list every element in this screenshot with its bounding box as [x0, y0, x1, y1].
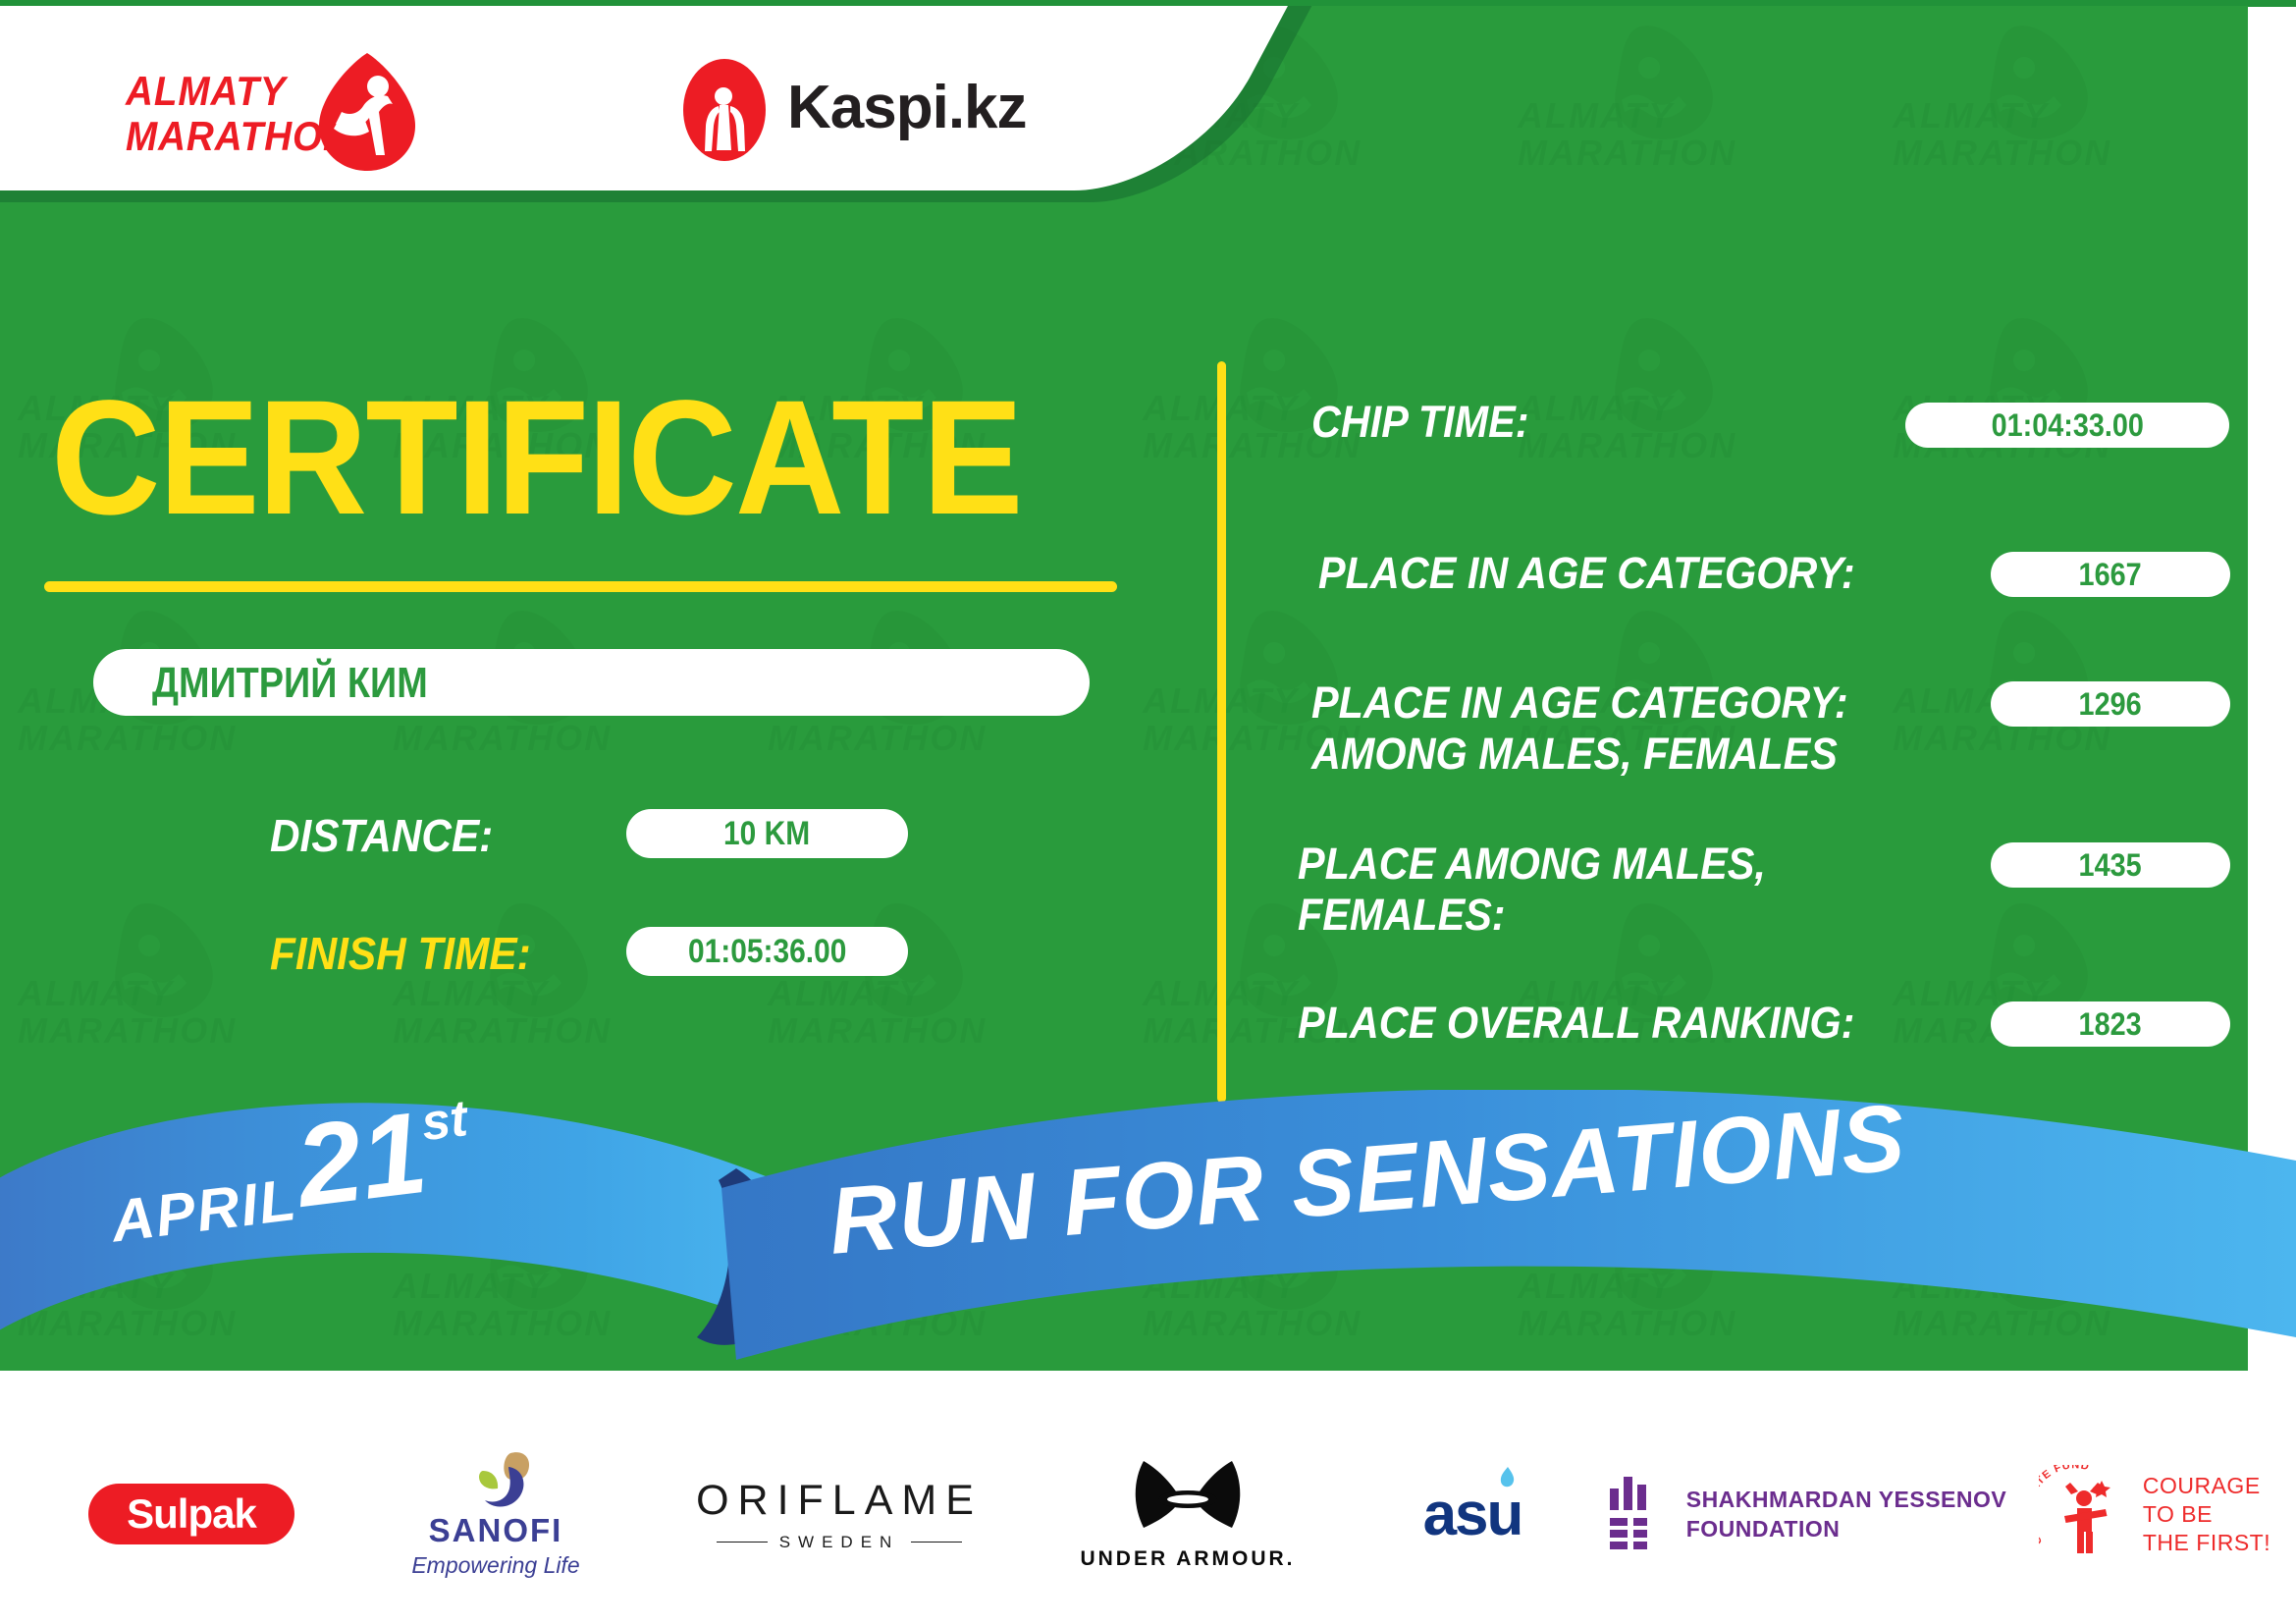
almaty-marathon-logo: ALMATY MARATHON — [126, 55, 420, 169]
finish-time-value: 01:05:36.00 — [688, 933, 846, 971]
sponsor-under-armour: UNDER ARMOUR. — [1041, 1404, 1335, 1624]
yessenov-foundation-logo: SHAKHMARDAN YESSENOV FOUNDATION — [1606, 1475, 2007, 1553]
place-overall-value-pill: 1823 — [1991, 1001, 2230, 1047]
event-day: 21 — [290, 1088, 433, 1232]
sanofi-bird-icon — [454, 1449, 538, 1508]
place-age-category-gender-label: PLACE IN AGE CATEGORY: AMONG MALES, FEMA… — [1311, 677, 1998, 780]
chip-time-label: CHIP TIME: — [1311, 397, 1998, 448]
place-overall-label: PLACE OVERALL RANKING: — [1298, 998, 1984, 1049]
certificate-canvas: ALMATY MARATHON CERTIFICATE ДМИТРИЙ КИМ … — [0, 0, 2296, 1624]
finish-time-value-pill: 01:05:36.00 — [626, 927, 908, 976]
oriflame-sub: SWEDEN — [696, 1533, 983, 1552]
distance-value: 10 KM — [723, 815, 810, 853]
kaspi-wordmark: Kaspi.kz — [787, 73, 1027, 142]
sponsor-bar: Sulpak SANOFI Empowering Life ORIFLAME S… — [0, 1404, 2296, 1624]
sponsor-asu: asu — [1345, 1404, 1600, 1624]
oriflame-rule-left — [717, 1542, 768, 1543]
participant-name: ДМИТРИЙ КИМ — [152, 661, 428, 706]
yessenov-bars-icon — [1606, 1475, 1665, 1553]
oriflame-rule-right — [911, 1542, 962, 1543]
courage-line-3: THE FIRST! — [2143, 1529, 2270, 1557]
event-day-ordinal: st — [418, 1090, 470, 1152]
place-age-category-value: 1667 — [2079, 557, 2142, 593]
under-armour-icon — [1126, 1457, 1250, 1542]
sponsor-oriflame: ORIFLAME SWEDEN — [677, 1404, 1001, 1624]
courage-line-2: TO BE — [2143, 1500, 2270, 1529]
header-logos: ALMATY MARATHON Kaspi.kz — [0, 0, 1227, 187]
place-age-category-gender-value-pill: 1296 — [1991, 681, 2230, 727]
chip-time-value: 01:04:33.00 — [1991, 407, 2143, 444]
runner-drop-icon — [313, 51, 421, 174]
yessenov-line-1: SHAKHMARDAN YESSENOV — [1686, 1485, 2007, 1514]
asu-logo: asu — [1423, 1480, 1522, 1549]
finish-time-label: FINISH TIME: — [270, 929, 531, 978]
sponsor-yessenov-foundation: SHAKHMARDAN YESSENOV FOUNDATION — [1600, 1404, 2012, 1624]
courage-line-1: COURAGE — [2143, 1472, 2270, 1500]
place-age-category-label: PLACE IN AGE CATEGORY: — [1318, 548, 2004, 599]
distance-value-pill: 10 KM — [626, 809, 908, 858]
sponsor-sanofi: SANOFI Empowering Life — [353, 1404, 638, 1624]
participant-name-field: ДМИТРИЙ КИМ — [93, 649, 1090, 716]
place-among-gender-value-pill: 1435 — [1991, 842, 2230, 888]
kaspi-person-icon — [677, 57, 772, 163]
sanofi-tagline: Empowering Life — [411, 1552, 579, 1579]
sanofi-wordmark: SANOFI — [411, 1512, 579, 1549]
title-underline — [44, 581, 1117, 592]
chip-time-value-pill: 01:04:33.00 — [1905, 403, 2229, 448]
page-title: CERTIFICATE — [51, 377, 1022, 540]
oriflame-logo: ORIFLAME SWEDEN — [696, 1477, 983, 1552]
distance-label: DISTANCE: — [270, 811, 493, 860]
courage-wordmark: COURAGE TO BE THE FIRST! — [2143, 1472, 2270, 1557]
sulpak-logo: Sulpak — [88, 1484, 294, 1544]
kaspi-logo: Kaspi.kz — [677, 57, 1090, 165]
courage-to-be-first-logo: CORPORATE FUND COURAGE TO — [2039, 1465, 2270, 1563]
under-armour-wordmark: UNDER ARMOUR. — [1080, 1547, 1295, 1571]
oriflame-wordmark: ORIFLAME — [696, 1477, 983, 1525]
yessenov-line-2: FOUNDATION — [1686, 1514, 2007, 1543]
place-age-category-value-pill: 1667 — [1991, 552, 2230, 597]
place-age-category-gender-value: 1296 — [2079, 686, 2142, 723]
place-among-gender-value: 1435 — [2079, 847, 2142, 884]
oriflame-tagline: SWEDEN — [779, 1533, 900, 1552]
sanofi-logo: SANOFI Empowering Life — [411, 1449, 579, 1579]
place-among-gender-label: PLACE AMONG MALES, FEMALES: — [1298, 839, 1930, 941]
sponsor-sulpak: Sulpak — [59, 1404, 324, 1624]
place-overall-value: 1823 — [2079, 1006, 2142, 1043]
asu-drop-icon — [1494, 1466, 1520, 1491]
sponsor-courage-to-be-first: CORPORATE FUND COURAGE TO — [2022, 1404, 2287, 1624]
column-divider — [1217, 361, 1226, 1103]
yessenov-foundation-wordmark: SHAKHMARDAN YESSENOV FOUNDATION — [1686, 1485, 2007, 1543]
under-armour-logo: UNDER ARMOUR. — [1080, 1457, 1295, 1571]
sulpak-wordmark: Sulpak — [127, 1490, 256, 1538]
courage-runner-icon: CORPORATE FUND — [2039, 1465, 2129, 1563]
